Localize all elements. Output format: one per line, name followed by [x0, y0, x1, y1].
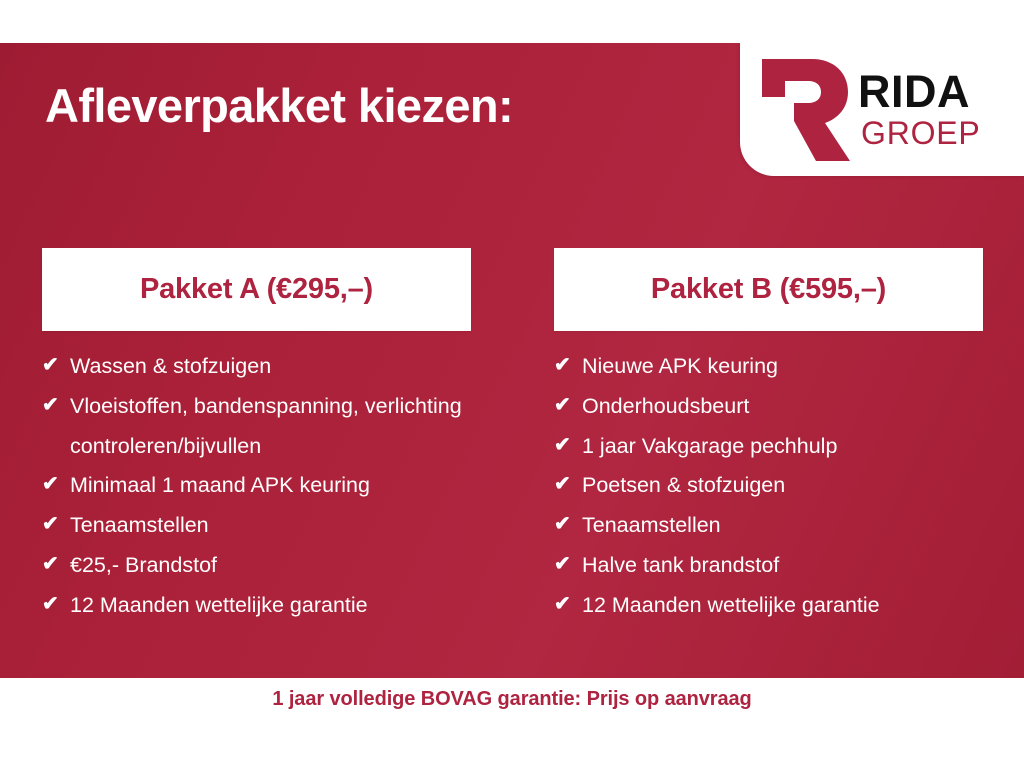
check-icon: ✔	[554, 506, 580, 543]
package-columns: Pakket A (€295,–) ✔ Wassen & stofzuigen …	[0, 43, 1024, 678]
list-item: ✔ Onderhoudsbeurt	[554, 387, 983, 427]
package-b-title-box[interactable]: Pakket B (€595,–)	[554, 248, 983, 331]
footer-bar: 1 jaar volledige BOVAG garantie: Prijs o…	[0, 678, 1024, 768]
check-icon: ✔	[554, 387, 580, 424]
feature-label: 12 Maanden wettelijke garantie	[68, 586, 368, 626]
list-item: ✔ Tenaamstellen	[554, 506, 983, 546]
check-icon: ✔	[42, 387, 68, 424]
check-icon: ✔	[554, 427, 580, 464]
package-card-a[interactable]: Pakket A (€295,–) ✔ Wassen & stofzuigen …	[42, 248, 471, 625]
list-item: ✔ Poetsen & stofzuigen	[554, 466, 983, 506]
check-icon: ✔	[554, 546, 580, 583]
package-b-title: Pakket B (€595,–)	[651, 273, 886, 306]
feature-label: Minimaal 1 maand APK keuring	[68, 466, 370, 506]
footer-note: 1 jaar volledige BOVAG garantie: Prijs o…	[0, 688, 1024, 711]
feature-label: 1 jaar Vakgarage pechhulp	[580, 427, 837, 467]
slide-canvas: Afleverpakket kiezen: RIDA GROEP Pakket …	[0, 0, 1024, 768]
list-item: ✔ Nieuwe APK keuring	[554, 347, 983, 387]
feature-label: 12 Maanden wettelijke garantie	[580, 586, 880, 626]
list-item: ✔ Halve tank brandstof	[554, 546, 983, 586]
package-a-title-box[interactable]: Pakket A (€295,–)	[42, 248, 471, 331]
check-icon: ✔	[42, 546, 68, 583]
list-item: ✔ Wassen & stofzuigen	[42, 347, 471, 387]
list-item: ✔ Tenaamstellen	[42, 506, 471, 546]
package-a-title: Pakket A (€295,–)	[140, 273, 373, 306]
list-item: ✔ €25,- Brandstof	[42, 546, 471, 586]
list-item: ✔ Minimaal 1 maand APK keuring	[42, 466, 471, 506]
feature-label: Halve tank brandstof	[580, 546, 779, 586]
package-card-b[interactable]: Pakket B (€595,–) ✔ Nieuwe APK keuring ✔…	[554, 248, 983, 625]
feature-label: Vloeistoffen, bandenspanning, verlichtin…	[68, 387, 471, 467]
feature-label: Wassen & stofzuigen	[68, 347, 271, 387]
list-item: ✔ Vloeistoffen, bandenspanning, verlicht…	[42, 387, 471, 467]
red-content-panel: Afleverpakket kiezen: RIDA GROEP Pakket …	[0, 43, 1024, 678]
feature-label: Tenaamstellen	[580, 506, 721, 546]
check-icon: ✔	[554, 347, 580, 384]
package-b-feature-list: ✔ Nieuwe APK keuring ✔ Onderhoudsbeurt ✔…	[554, 331, 983, 625]
package-a-feature-list: ✔ Wassen & stofzuigen ✔ Vloeistoffen, ba…	[42, 331, 471, 625]
feature-label: Nieuwe APK keuring	[580, 347, 778, 387]
feature-label: Tenaamstellen	[68, 506, 209, 546]
feature-label: €25,- Brandstof	[68, 546, 217, 586]
list-item: ✔ 1 jaar Vakgarage pechhulp	[554, 427, 983, 467]
list-item: ✔ 12 Maanden wettelijke garantie	[554, 586, 983, 626]
check-icon: ✔	[554, 466, 580, 503]
list-item: ✔ 12 Maanden wettelijke garantie	[42, 586, 471, 626]
check-icon: ✔	[42, 506, 68, 543]
feature-label: Onderhoudsbeurt	[580, 387, 749, 427]
check-icon: ✔	[42, 466, 68, 503]
feature-label: Poetsen & stofzuigen	[580, 466, 785, 506]
check-icon: ✔	[554, 586, 580, 623]
check-icon: ✔	[42, 347, 68, 384]
check-icon: ✔	[42, 586, 68, 623]
